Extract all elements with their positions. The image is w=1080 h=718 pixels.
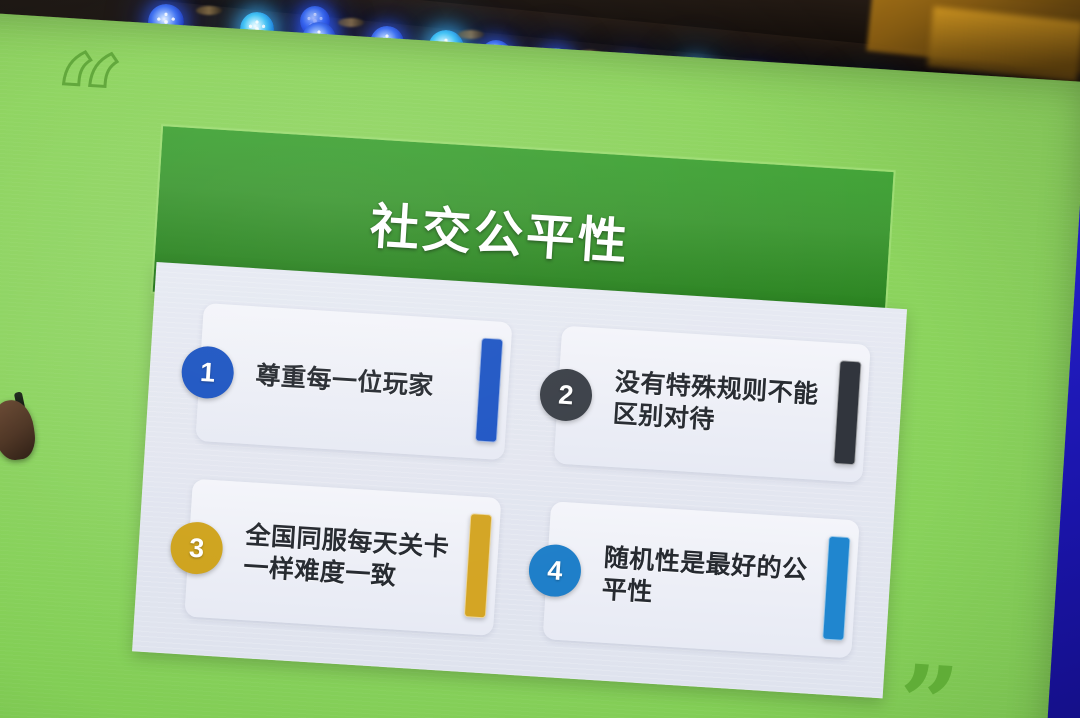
projection-screen: “ ” 社交公平性 1尊重每一位玩家2没有特殊规则不能 区别对待3全国同服每天关… — [0, 8, 1080, 718]
slide-content-panel: 1尊重每一位玩家2没有特殊规则不能 区别对待3全国同服每天关卡 一样难度一致4随… — [132, 262, 907, 698]
bullet-number-label: 2 — [558, 379, 575, 411]
bullet-item-4: 4随机性是最好的公 平性 — [516, 488, 870, 671]
quote-close-icon: ” — [896, 664, 957, 718]
stage-photo: “ ” 社交公平性 1尊重每一位玩家2没有特殊规则不能 区别对待3全国同服每天关… — [0, 0, 1080, 718]
quote-open-icon: “ — [52, 53, 120, 144]
bullet-item-1: 1尊重每一位玩家 — [169, 289, 523, 472]
bullet-number-label: 1 — [199, 356, 216, 388]
bullet-number-label: 4 — [546, 555, 563, 587]
bullet-number-label: 3 — [188, 532, 205, 564]
bullet-item-2: 2没有特殊规则不能 区别对待 — [527, 312, 881, 495]
bullet-text: 没有特殊规则不能 区别对待 — [612, 366, 820, 443]
rig-fixture-1 — [196, 6, 222, 15]
bullet-item-3: 3全国同服每天关卡 一样难度一致 — [158, 465, 512, 648]
rig-fixture-2 — [338, 18, 364, 27]
bullet-text: 全国同服每天关卡 一样难度一致 — [243, 519, 451, 596]
rig-fixture-3 — [458, 30, 484, 39]
bullet-text: 随机性是最好的公 平性 — [601, 542, 809, 619]
bullet-grid: 1尊重每一位玩家2没有特殊规则不能 区别对待3全国同服每天关卡 一样难度一致4随… — [132, 262, 907, 698]
